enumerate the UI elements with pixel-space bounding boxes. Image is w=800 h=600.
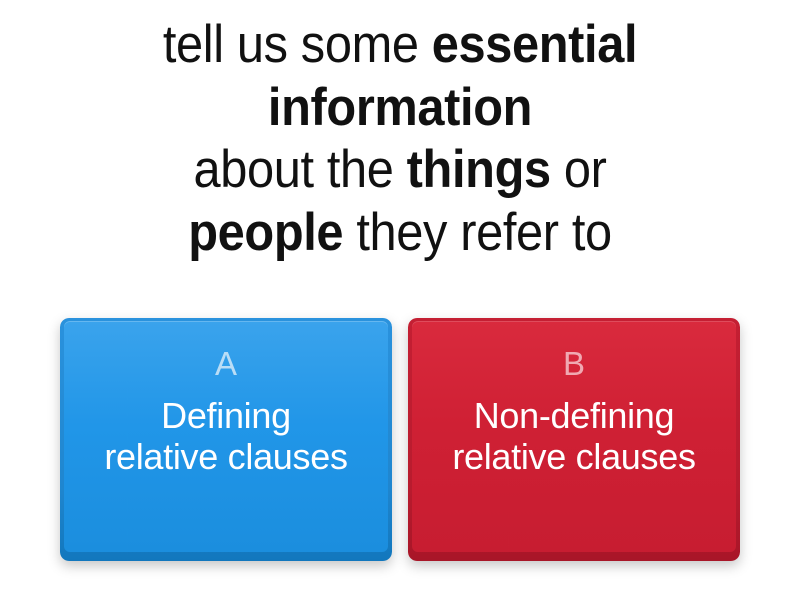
answer-option-b-content: B Non-defining relative clauses <box>418 332 730 477</box>
question-emphasis: information <box>268 78 532 137</box>
question-text: tell us some essentialinformationabout t… <box>50 14 749 264</box>
question-span: or <box>551 140 607 199</box>
answer-option-a[interactable]: A Defining relative clauses <box>60 318 392 561</box>
answer-options-area: A Defining relative clauses B Non-defini… <box>0 318 800 568</box>
answer-option-b[interactable]: B Non-defining relative clauses <box>408 318 740 561</box>
question-span: about the <box>193 140 406 199</box>
answer-label-a-line1: Defining <box>161 395 291 436</box>
question-span: tell us some <box>163 15 432 74</box>
answer-label-b-line2: relative clauses <box>452 436 695 477</box>
quiz-screen: tell us some essentialinformationabout t… <box>0 0 800 600</box>
question-line-1: tell us some essential <box>50 14 749 77</box>
answer-letter-a: A <box>215 347 237 380</box>
question-line-3: about the things or <box>50 139 749 202</box>
question-area: tell us some essentialinformationabout t… <box>0 14 800 294</box>
answer-label-a-line2: relative clauses <box>104 436 347 477</box>
question-emphasis: essential <box>432 15 637 74</box>
answer-option-a-content: A Defining relative clauses <box>70 332 382 477</box>
answer-label-a: Defining relative clauses <box>100 396 351 477</box>
question-line-4: people they refer to <box>50 202 749 265</box>
question-emphasis: things <box>407 140 551 199</box>
question-line-2: information <box>50 77 749 140</box>
question-span: they refer to <box>343 203 612 262</box>
question-emphasis: people <box>188 203 343 262</box>
answer-label-b: Non-defining relative clauses <box>448 396 699 477</box>
answer-label-b-line1: Non-defining <box>474 395 675 436</box>
answer-letter-b: B <box>563 347 585 380</box>
